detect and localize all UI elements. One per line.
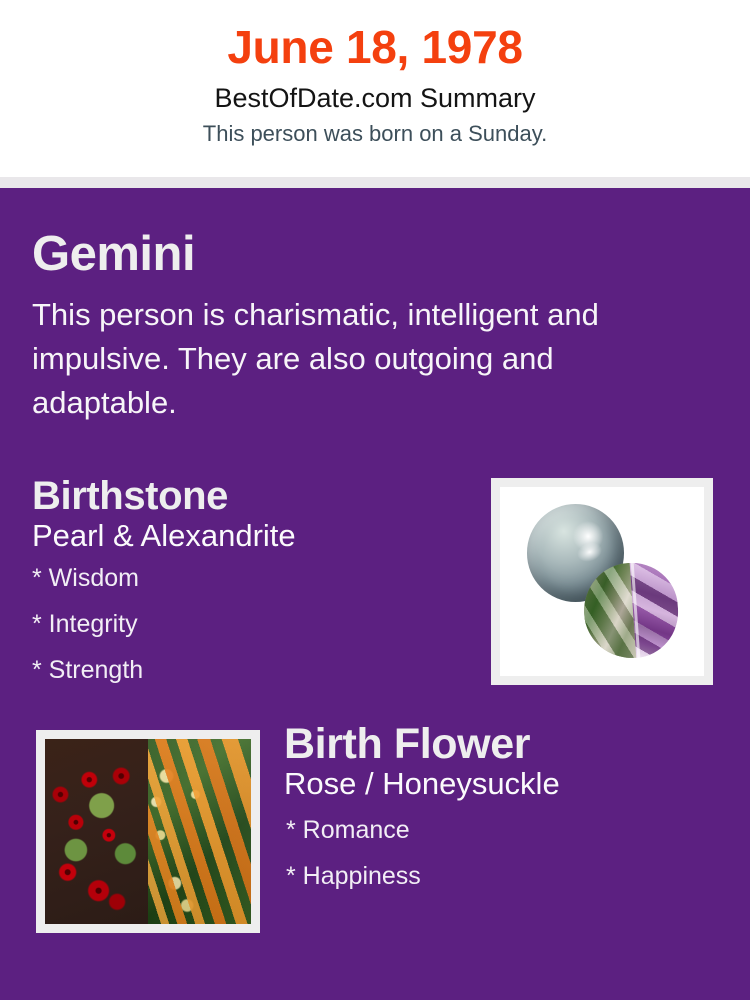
- page-title: June 18, 1978: [0, 22, 750, 74]
- birthstone-photo: [491, 478, 713, 685]
- birthstone-trait: * Wisdom: [32, 566, 296, 591]
- birth-flower-trait: * Happiness: [286, 864, 560, 889]
- zodiac-description: This person is charismatic, intelligent …: [32, 293, 702, 425]
- alexandrite-faceted-half: [629, 559, 681, 656]
- birth-flower-section: Birth Flower Rose / Honeysuckle * Romanc…: [32, 730, 718, 945]
- birthstone-section: Birthstone Pearl & Alexandrite * Wisdom …: [32, 475, 718, 705]
- birth-flower-photo: [36, 730, 260, 933]
- zodiac-sign-name: Gemini: [32, 188, 718, 279]
- site-summary-label: BestOfDate.com Summary: [0, 81, 750, 116]
- birthstone-text-block: Birthstone Pearl & Alexandrite * Wisdom …: [32, 475, 296, 704]
- alexandrite-gem-icon: [580, 559, 680, 660]
- birth-day-note: This person was born on a Sunday.: [0, 120, 750, 149]
- birth-flower-trait: * Romance: [286, 818, 560, 843]
- header: June 18, 1978 BestOfDate.com Summary Thi…: [0, 0, 750, 177]
- birthstone-trait-list: * Wisdom * Integrity * Strength: [32, 566, 296, 683]
- header-divider: [0, 177, 750, 188]
- red-roses-icon: [45, 739, 148, 924]
- birthstone-trait: * Integrity: [32, 612, 296, 637]
- alexandrite-rough-half: [580, 563, 635, 661]
- birth-flower-text-block: Birth Flower Rose / Honeysuckle * Romanc…: [284, 722, 560, 910]
- birth-flower-photo-inner: [45, 739, 251, 924]
- bestofdate-summary-card: June 18, 1978 BestOfDate.com Summary Thi…: [0, 0, 750, 1000]
- birthstone-heading: Birthstone: [32, 475, 296, 517]
- honeysuckle-flowers-icon: [148, 739, 251, 924]
- birth-flower-heading: Birth Flower: [284, 722, 560, 767]
- birthstone-trait: * Strength: [32, 658, 296, 683]
- birth-flower-name: Rose / Honeysuckle: [284, 767, 560, 802]
- birth-flower-trait-list: * Romance * Happiness: [284, 818, 560, 889]
- summary-panel: Gemini This person is charismatic, intel…: [0, 188, 750, 1000]
- birthstone-photo-inner: [500, 487, 704, 676]
- birthstone-name: Pearl & Alexandrite: [32, 519, 296, 554]
